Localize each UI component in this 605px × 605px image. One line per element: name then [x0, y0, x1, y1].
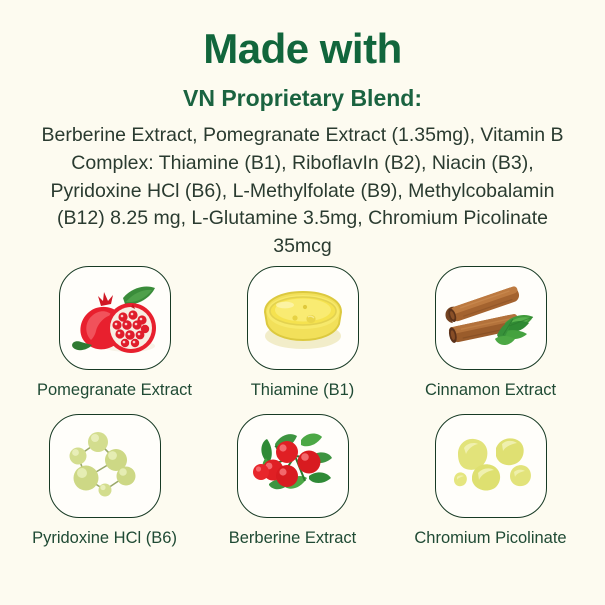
ingredient-card-thiamine: Thiamine (B1): [238, 266, 368, 399]
cinnamon-sticks-icon: [443, 277, 539, 359]
ingredient-label: Pomegranate Extract: [37, 381, 192, 399]
molecule-icon: [60, 426, 150, 506]
ingredient-image-tile: [247, 266, 359, 370]
ingredient-card-pyridoxine: Pyridoxine HCl (B6): [40, 414, 170, 547]
page-title: Made with: [0, 0, 605, 70]
ingredient-card-pomegranate: Pomegranate Extract: [50, 266, 180, 399]
ingredient-image-tile: [435, 414, 547, 518]
pomegranate-icon: [67, 276, 163, 360]
red-berries-icon: [245, 426, 341, 506]
ingredient-image-tile: [435, 266, 547, 370]
ingredient-card-berberine: Berberine Extract: [228, 414, 358, 547]
ingredient-label: Cinnamon Extract: [425, 381, 556, 399]
yellow-droplets-icon: [444, 426, 538, 506]
made-with-ingredients-panel: Made with VN Proprietary Blend: Berberin…: [0, 0, 605, 605]
ingredient-image-tile: [237, 414, 349, 518]
ingredient-card-cinnamon: Cinnamon Extract: [426, 266, 556, 399]
blend-ingredient-list: Berberine Extract, Pomegranate Extract (…: [30, 111, 575, 260]
blend-subtitle: VN Proprietary Blend:: [0, 70, 605, 111]
ingredient-row-bottom: Pyridoxine HCl (B6): [0, 414, 605, 547]
ingredient-label: Berberine Extract: [229, 529, 356, 547]
ingredient-image-tile: [59, 266, 171, 370]
yellow-liquid-dish-icon: [255, 278, 351, 358]
ingredient-grid: Pomegranate Extract: [0, 266, 605, 547]
ingredient-label: Chromium Picolinate: [414, 529, 566, 547]
ingredient-card-chromium: Chromium Picolinate: [416, 414, 566, 547]
ingredient-row-top: Pomegranate Extract: [0, 266, 605, 399]
ingredient-label: Pyridoxine HCl (B6): [32, 529, 177, 547]
ingredient-label: Thiamine (B1): [251, 381, 355, 399]
ingredient-image-tile: [49, 414, 161, 518]
